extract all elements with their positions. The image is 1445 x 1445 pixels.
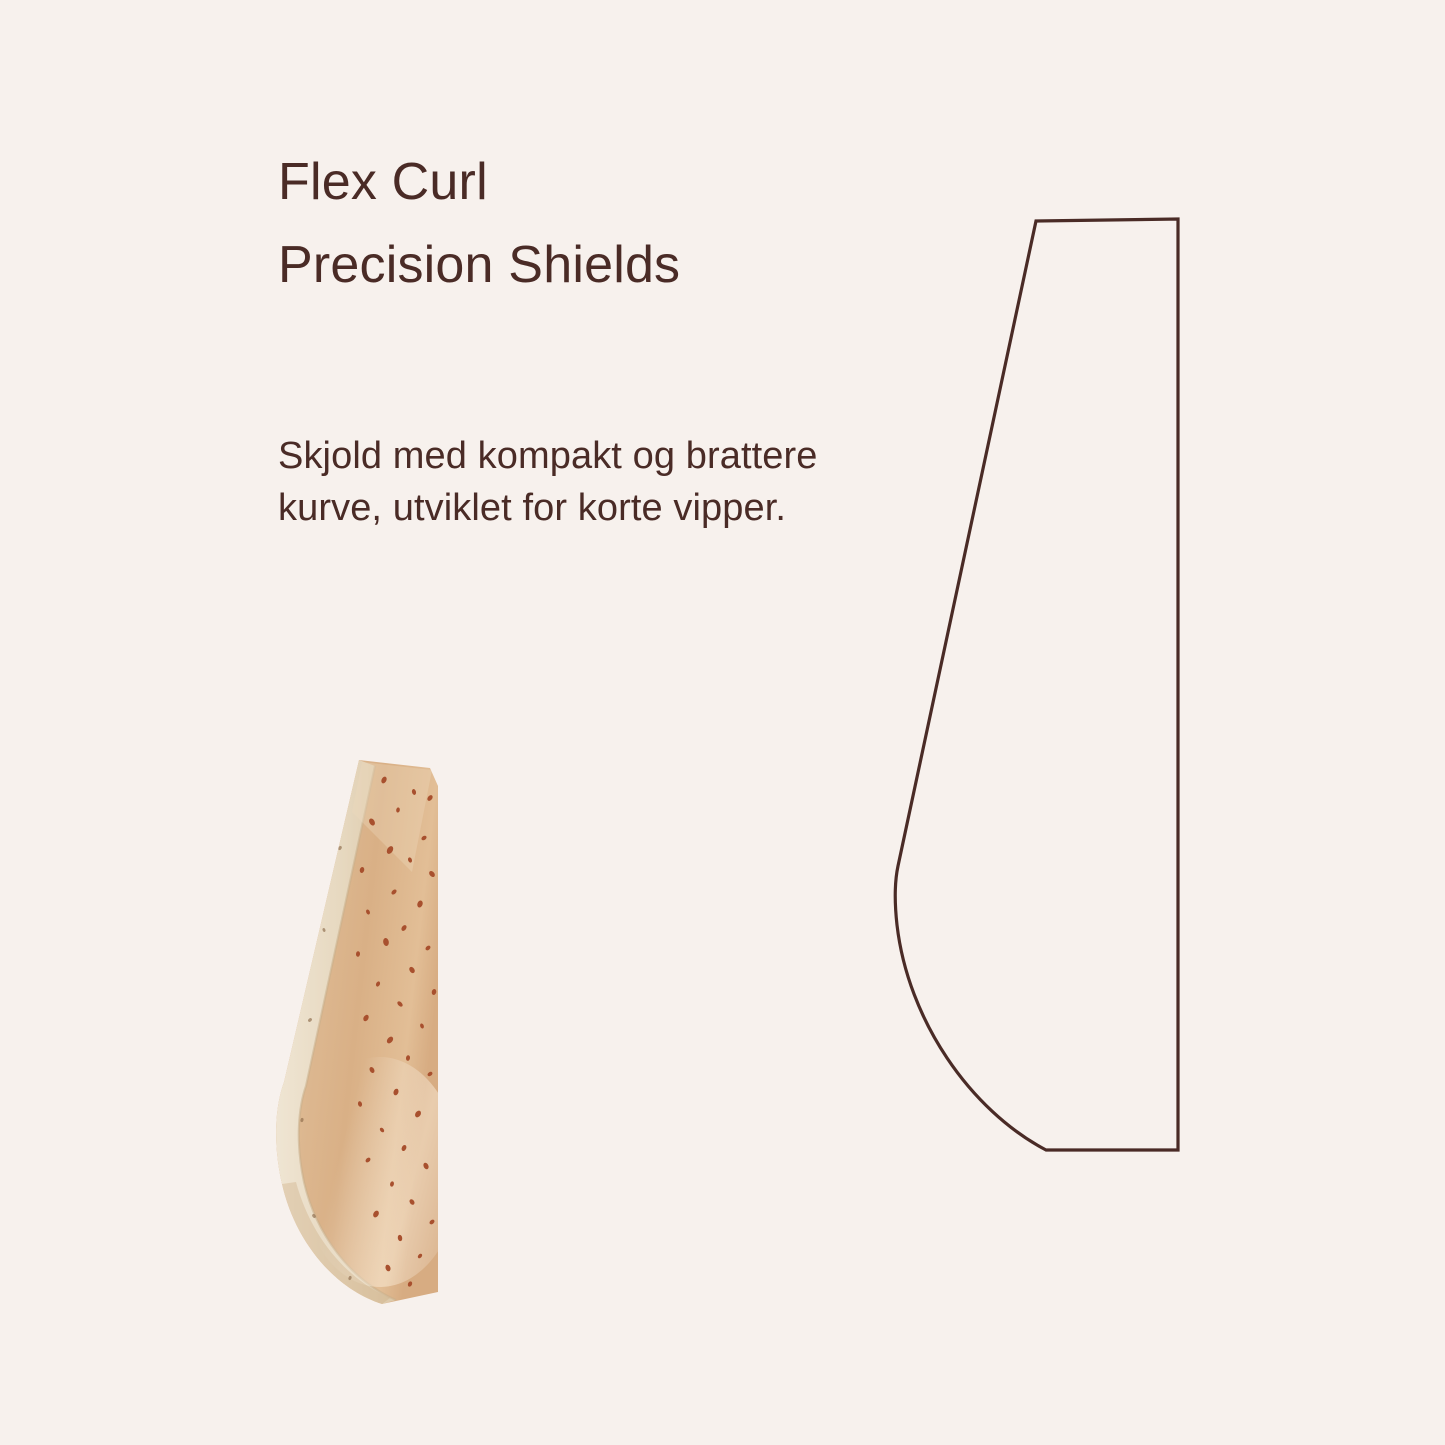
shield-profile-outline-icon — [850, 180, 1250, 1200]
shield-outline-figure — [850, 180, 1250, 1200]
product-description: Skjold med kompakt og brattere kurve, ut… — [278, 430, 818, 534]
poster-canvas: Flex Curl Precision Shields Skjold med k… — [0, 0, 1445, 1445]
flex-curl-shield-photo-image — [262, 752, 442, 1308]
product-photo — [262, 752, 442, 1308]
page-title: Flex Curl Precision Shields — [278, 141, 898, 307]
